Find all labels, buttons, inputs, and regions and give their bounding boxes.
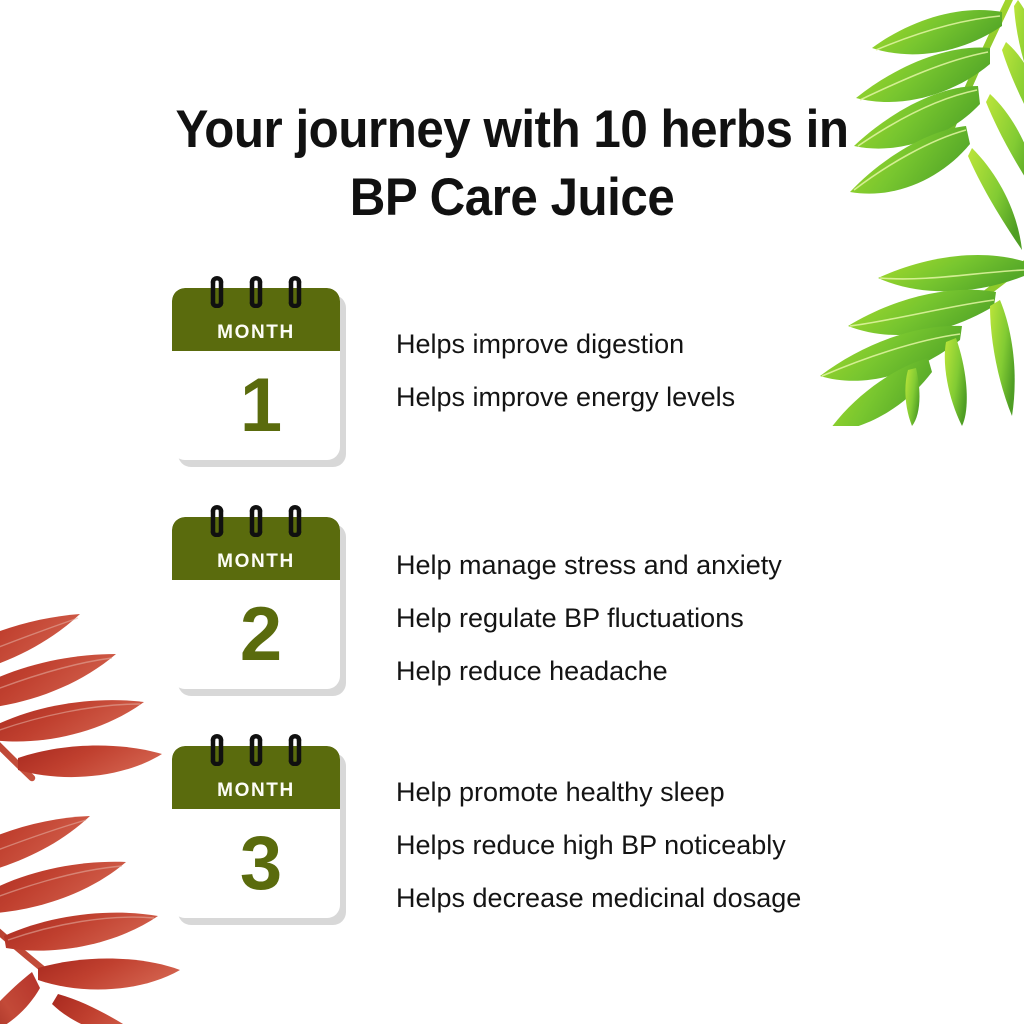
benefit-item: Help promote healthy sleep: [396, 766, 936, 819]
calendar-body: MONTH 1: [172, 288, 340, 460]
calendar-icon-month-1: MONTH 1: [172, 288, 340, 460]
calendar-month-label: MONTH: [217, 551, 295, 573]
benefit-item: Help manage stress and anxiety: [396, 539, 936, 592]
title-line-1: Your journey with 10 herbs in: [36, 96, 988, 164]
benefit-item: Help reduce headache: [396, 645, 936, 698]
benefit-item: Helps decrease medicinal dosage: [396, 872, 936, 925]
benefits-list-month-1: Helps improve digestion Helps improve en…: [396, 318, 936, 424]
title-line-2: BP Care Juice: [36, 164, 988, 232]
calendar-spiral-rings-icon: [172, 274, 340, 308]
calendar-body: MONTH 3: [172, 746, 340, 918]
infographic-page: Your journey with 10 herbs in BP Care Ju…: [0, 0, 1024, 1024]
benefit-item: Help regulate BP fluctuations: [396, 592, 936, 645]
calendar-icon-month-3: MONTH 3: [172, 746, 340, 918]
calendar-spiral-rings-icon: [172, 732, 340, 766]
benefits-list-month-2: Help manage stress and anxiety Help regu…: [396, 539, 936, 698]
benefit-item: Helps reduce high BP noticeably: [396, 819, 936, 872]
benefit-item: Helps improve energy levels: [396, 371, 936, 424]
page-title: Your journey with 10 herbs in BP Care Ju…: [0, 96, 1024, 232]
calendar-month-label: MONTH: [217, 322, 295, 344]
calendar-month-number: 2: [172, 580, 340, 689]
month-row-2: MONTH 2: [0, 517, 1024, 746]
benefit-item: Helps improve digestion: [396, 318, 936, 371]
calendar-month-number: 3: [172, 809, 340, 918]
timeline-rows: MONTH 1: [0, 288, 1024, 975]
calendar-body: MONTH 2: [172, 517, 340, 689]
calendar-month-number: 1: [172, 351, 340, 460]
benefits-list-month-3: Help promote healthy sleep Helps reduce …: [396, 766, 936, 925]
calendar-spiral-rings-icon: [172, 503, 340, 537]
calendar-month-label: MONTH: [217, 780, 295, 802]
calendar-icon-month-2: MONTH 2: [172, 517, 340, 689]
month-row-3: MONTH 3: [0, 746, 1024, 975]
month-row-1: MONTH 1: [0, 288, 1024, 517]
